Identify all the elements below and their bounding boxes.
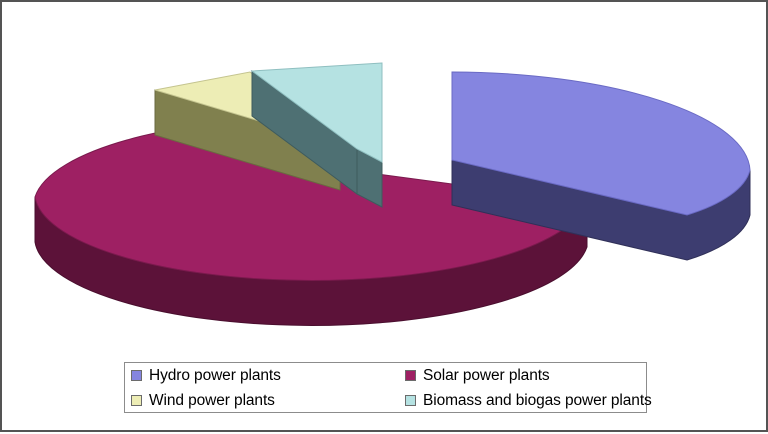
chart-frame: Hydro power plants Solar power plants Wi… [0, 0, 768, 432]
legend-label-solar: Solar power plants [423, 368, 550, 384]
legend-item-solar[interactable]: Solar power plants [399, 363, 648, 388]
legend-label-wind: Wind power plants [149, 393, 275, 409]
legend-item-biomass[interactable]: Biomass and biogas power plants [399, 388, 648, 413]
legend-label-biomass: Biomass and biogas power plants [423, 393, 652, 409]
legend-swatch-biomass [405, 395, 416, 406]
legend-item-hydro[interactable]: Hydro power plants [125, 363, 399, 388]
chart-legend: Hydro power plants Solar power plants Wi… [124, 362, 647, 413]
legend-item-wind[interactable]: Wind power plants [125, 388, 399, 413]
legend-swatch-wind [131, 395, 142, 406]
legend-swatch-hydro [131, 370, 142, 381]
legend-swatch-solar [405, 370, 416, 381]
legend-label-hydro: Hydro power plants [149, 368, 281, 384]
